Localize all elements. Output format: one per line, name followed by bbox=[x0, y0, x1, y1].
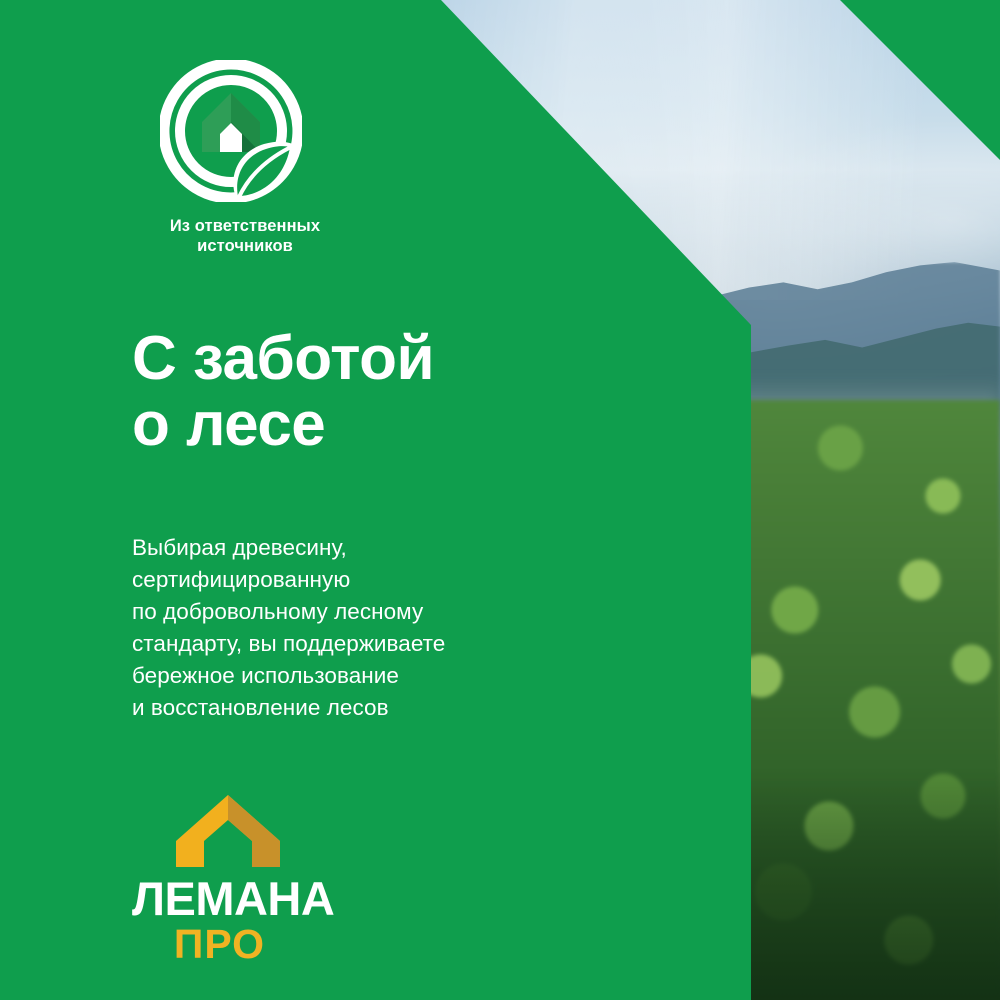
poster: Из ответственных источников С заботой о … bbox=[0, 0, 1000, 1000]
certification-mark: Из ответственных источников bbox=[160, 60, 360, 256]
brand-sub: ПРО bbox=[132, 924, 307, 965]
brand-name: ЛЕМАНА bbox=[132, 875, 332, 922]
brand-lockup: ЛЕМАНА ПРО bbox=[132, 795, 332, 965]
circle-house-leaf-icon bbox=[160, 60, 302, 202]
house-roof-icon bbox=[176, 795, 280, 867]
headline: С заботой о лесе bbox=[132, 326, 434, 459]
content-column: Из ответственных источников С заботой о … bbox=[0, 0, 751, 1000]
body-copy: Выбирая древесину, сертифицированную по … bbox=[132, 532, 445, 724]
certification-mark-caption: Из ответственных источников bbox=[130, 216, 360, 256]
